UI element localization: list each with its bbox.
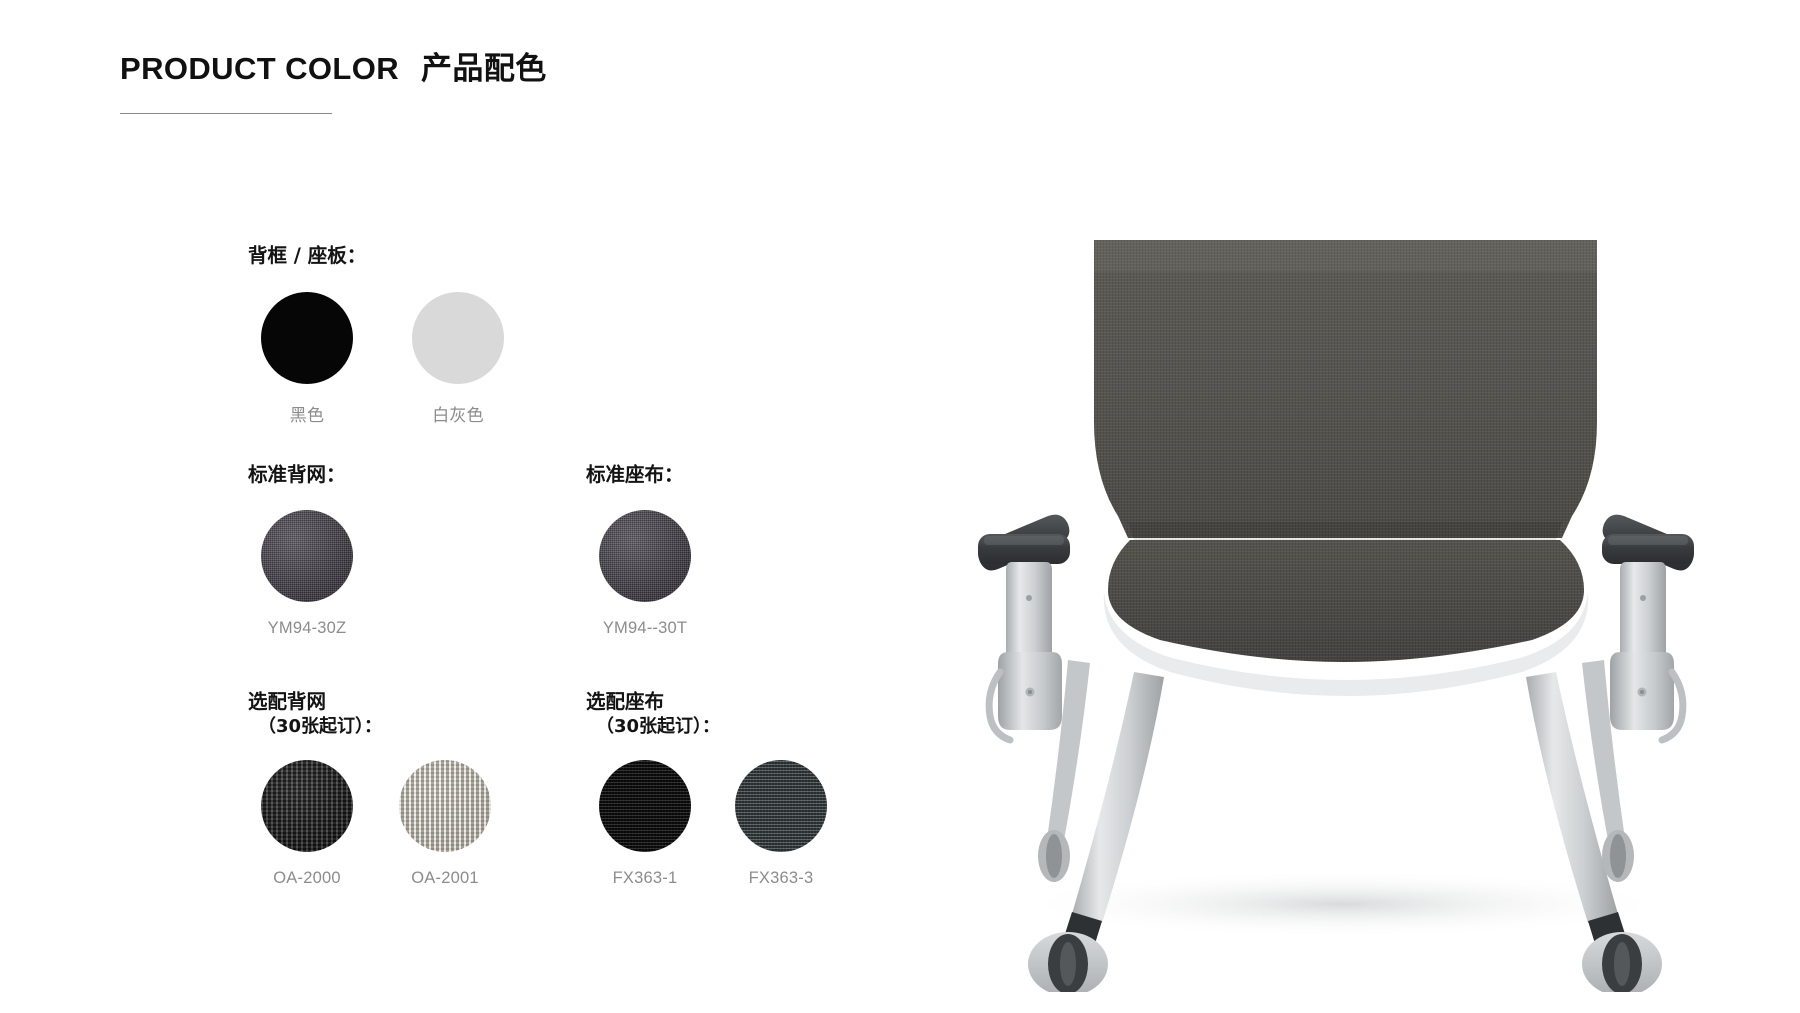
- group-standard-seat-fabric: 标准座布： YM94--30T: [586, 462, 704, 638]
- caster-rear-right: [1602, 830, 1634, 882]
- title-chinese: 产品配色: [421, 51, 547, 87]
- swatch-label-ym94-30t: YM94--30T: [586, 619, 704, 638]
- swatch-row-frame-seatboard: 黑色 白灰色: [248, 292, 517, 426]
- swatch-label-black: 黑色: [248, 401, 366, 426]
- title-text: PRODUCT COLOR产品配色: [120, 52, 547, 86]
- swatch-row-optional-back-mesh: OA-2000 OA-2001: [248, 760, 504, 888]
- swatch-dot-oa-2000[interactable]: [261, 760, 353, 852]
- swatch-label-ym94-30z: YM94-30Z: [248, 619, 366, 638]
- swatch-label-fx363-1: FX363-1: [586, 869, 704, 888]
- swatch-cell-oa-2001[interactable]: OA-2001: [386, 760, 504, 888]
- swatch-dot-ym94-30t[interactable]: [599, 510, 691, 602]
- caster-front-right: [1582, 932, 1662, 992]
- chair-backrest: [1094, 240, 1597, 540]
- title-english: PRODUCT COLOR: [120, 51, 399, 86]
- chair-illustration: [872, 92, 1800, 992]
- group-heading-optional-back-mesh: 选配背网 （30张起订）：: [248, 689, 504, 738]
- group-optional-seat-fabric: 选配座布 （30张起订）： FX363-1 FX363-3: [586, 689, 840, 888]
- swatch-label-oa-2000: OA-2000: [248, 869, 366, 888]
- swatch-dot-whitegray[interactable]: [412, 292, 504, 384]
- armrest-right: [1602, 515, 1694, 740]
- swatch-cell-ym94-30t[interactable]: YM94--30T: [586, 510, 704, 638]
- group-subheading-optional-back-mesh: （30张起订）：: [248, 715, 504, 739]
- swatch-row-standard-seat-fabric: YM94--30T: [586, 510, 704, 638]
- swatch-dot-fx363-3[interactable]: [735, 760, 827, 852]
- swatch-dot-black[interactable]: [261, 292, 353, 384]
- group-heading-standard-seat-fabric: 标准座布：: [586, 462, 704, 488]
- group-heading-frame-seatboard: 背框 / 座板：: [248, 243, 517, 269]
- swatch-cell-fx363-3[interactable]: FX363-3: [722, 760, 840, 888]
- swatch-dot-ym94-30z[interactable]: [261, 510, 353, 602]
- product-color-page: PRODUCT COLOR产品配色 背框 / 座板： 黑色 白灰色: [0, 0, 1800, 1013]
- group-heading-optional-seat-fabric: 选配座布 （30张起订）：: [586, 689, 840, 738]
- swatch-label-fx363-3: FX363-3: [722, 869, 840, 888]
- swatch-cell-ym94-30z[interactable]: YM94-30Z: [248, 510, 366, 638]
- swatch-cell-black[interactable]: 黑色: [248, 292, 366, 426]
- swatch-dot-fx363-1[interactable]: [599, 760, 691, 852]
- swatch-cell-oa-2000[interactable]: OA-2000: [248, 760, 366, 888]
- swatch-cell-whitegray[interactable]: 白灰色: [399, 292, 517, 426]
- swatch-dot-oa-2001[interactable]: [399, 760, 491, 852]
- armrest-left: [978, 515, 1070, 740]
- group-frame-seatboard: 背框 / 座板： 黑色 白灰色: [248, 243, 517, 426]
- group-subheading-optional-seat-fabric: （30张起订）：: [586, 715, 840, 739]
- swatch-label-whitegray: 白灰色: [399, 401, 517, 426]
- caster-front-left: [1028, 932, 1108, 992]
- title-divider: [120, 113, 332, 114]
- swatch-row-optional-seat-fabric: FX363-1 FX363-3: [586, 760, 840, 888]
- group-standard-back-mesh: 标准背网： YM94-30Z: [248, 462, 366, 638]
- group-optional-back-mesh: 选配背网 （30张起订）： OA-2000 OA-2001: [248, 689, 504, 888]
- caster-rear-left: [1038, 830, 1070, 882]
- swatch-row-standard-back-mesh: YM94-30Z: [248, 510, 366, 638]
- product-photo-chair: [872, 92, 1800, 992]
- chair-seat: [1108, 540, 1584, 662]
- page-title: PRODUCT COLOR产品配色: [120, 52, 547, 114]
- swatch-cell-fx363-1[interactable]: FX363-1: [586, 760, 704, 888]
- swatch-label-oa-2001: OA-2001: [386, 869, 504, 888]
- group-heading-standard-back-mesh: 标准背网：: [248, 462, 366, 488]
